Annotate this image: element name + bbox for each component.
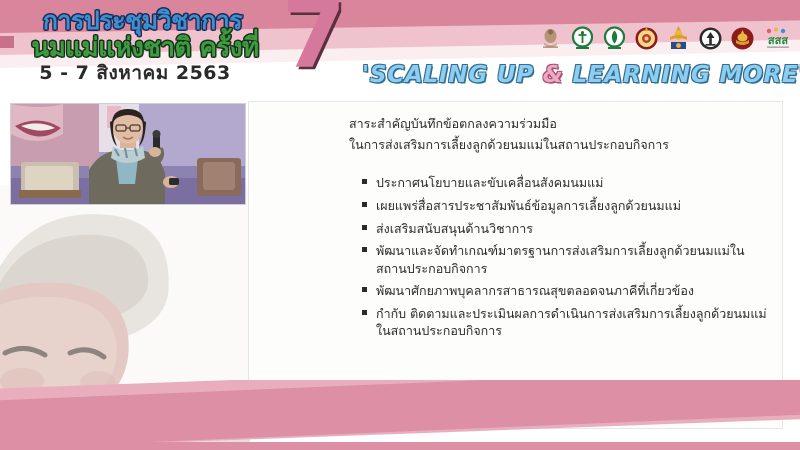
list-item-label: กำกับ ติดตามและประเมินผลการดำเนินการส่งเ… <box>376 306 767 338</box>
mou-bullet-list: ประกาศนโยบายและขับเคลื่อนสังคมนมแม่ เผยแ… <box>362 174 772 345</box>
royal-seal-logo <box>538 26 563 51</box>
list-item: เผยแพร่สื่อสารประชาสัมพันธ์ข้อมูลการเลี้… <box>362 197 772 214</box>
square-bullet-icon <box>362 247 367 252</box>
tagline-ampersand: & <box>543 62 564 88</box>
list-item: พัฒนาและจัดทำเกณฑ์มาตรฐานการส่งเสริมการเ… <box>362 242 772 277</box>
square-bullet-icon <box>362 179 367 184</box>
national-health-security-office-logo <box>698 26 723 51</box>
list-item: พัฒนาศักยภาพบุคลากรสาธารณสุขตลอดจนภาคีที… <box>362 282 772 299</box>
list-item-label: พัฒนาและจัดทำเกณฑ์มาตรฐานการส่งเสริมการเ… <box>376 243 745 275</box>
tagline-part-2: LEARNING MORE' <box>564 62 800 88</box>
intro-line-1: สาระสำคัญบันทึกข้อตกลงความร่วมมือ <box>349 114 769 135</box>
list-item-label: ประกาศนโยบายและขับเคลื่อนสังคมนมแม่ <box>376 175 603 190</box>
list-item-label: เผยแพร่สื่อสารประชาสัมพันธ์ข้อมูลการเลี้… <box>376 198 681 213</box>
thai-breastfeeding-centre-logo <box>634 26 659 51</box>
slide-header-banner: การประชุมวิชาการ นมแม่แห่งชาติ ครั้งที่ … <box>0 0 800 95</box>
presentation-slide: การประชุมวิชาการ นมแม่แห่งชาติ ครั้งที่ … <box>0 0 800 450</box>
list-item-label: ส่งเสริมสนับสนุนด้านวิชาการ <box>376 221 533 236</box>
list-item: ส่งเสริมสนับสนุนด้านวิชาการ <box>362 220 772 237</box>
conference-tagline: 'SCALING UP & LEARNING MORE' <box>362 62 792 88</box>
square-bullet-icon <box>362 287 367 292</box>
square-bullet-icon <box>362 225 367 230</box>
speaker-video-thumbnail[interactable] <box>10 103 246 205</box>
list-item: กำกับ ติดตามและประเมินผลการดำเนินการส่งเ… <box>362 305 772 340</box>
footer-pink-wedge <box>0 380 800 450</box>
edition-number: 7 <box>282 0 346 82</box>
list-item-label: พัฒนาศักยภาพบุคลากรสาธารณสุขตลอดจนภาคีที… <box>376 283 694 298</box>
square-bullet-icon <box>362 202 367 207</box>
footer-wedge-base <box>0 442 800 450</box>
conference-date: 5 - 7 สิงหาคม 2563 <box>0 58 270 88</box>
royal-garuda-emblem-logo <box>666 26 691 51</box>
department-of-health-logo <box>602 26 627 51</box>
svg-text:สสส: สสส <box>768 34 788 47</box>
tagline-part-1: 'SCALING UP <box>362 62 543 88</box>
square-bullet-icon <box>362 310 367 315</box>
conference-title-block: การประชุมวิชาการ นมแม่แห่งชาติ ครั้งที่ … <box>0 0 300 95</box>
sponsor-logo-strip: สสส <box>538 26 794 51</box>
thai-health-ministry-crest-logo <box>730 26 755 51</box>
list-item: ประกาศนโยบายและขับเคลื่อนสังคมนมแม่ <box>362 174 772 191</box>
slide-body: สาระสำคัญบันทึกข้อตกลงความร่วมมือ ในการส… <box>0 95 800 450</box>
intro-line-2: ในการส่งเสริมการเลี้ยงลูกด้วยนมแม่ในสถาน… <box>349 135 769 156</box>
ministry-of-public-health-logo <box>570 26 595 51</box>
intro-text: สาระสำคัญบันทึกข้อตกลงความร่วมมือ ในการส… <box>349 114 769 155</box>
thaihealth-sss-logo: สสส <box>762 26 794 51</box>
